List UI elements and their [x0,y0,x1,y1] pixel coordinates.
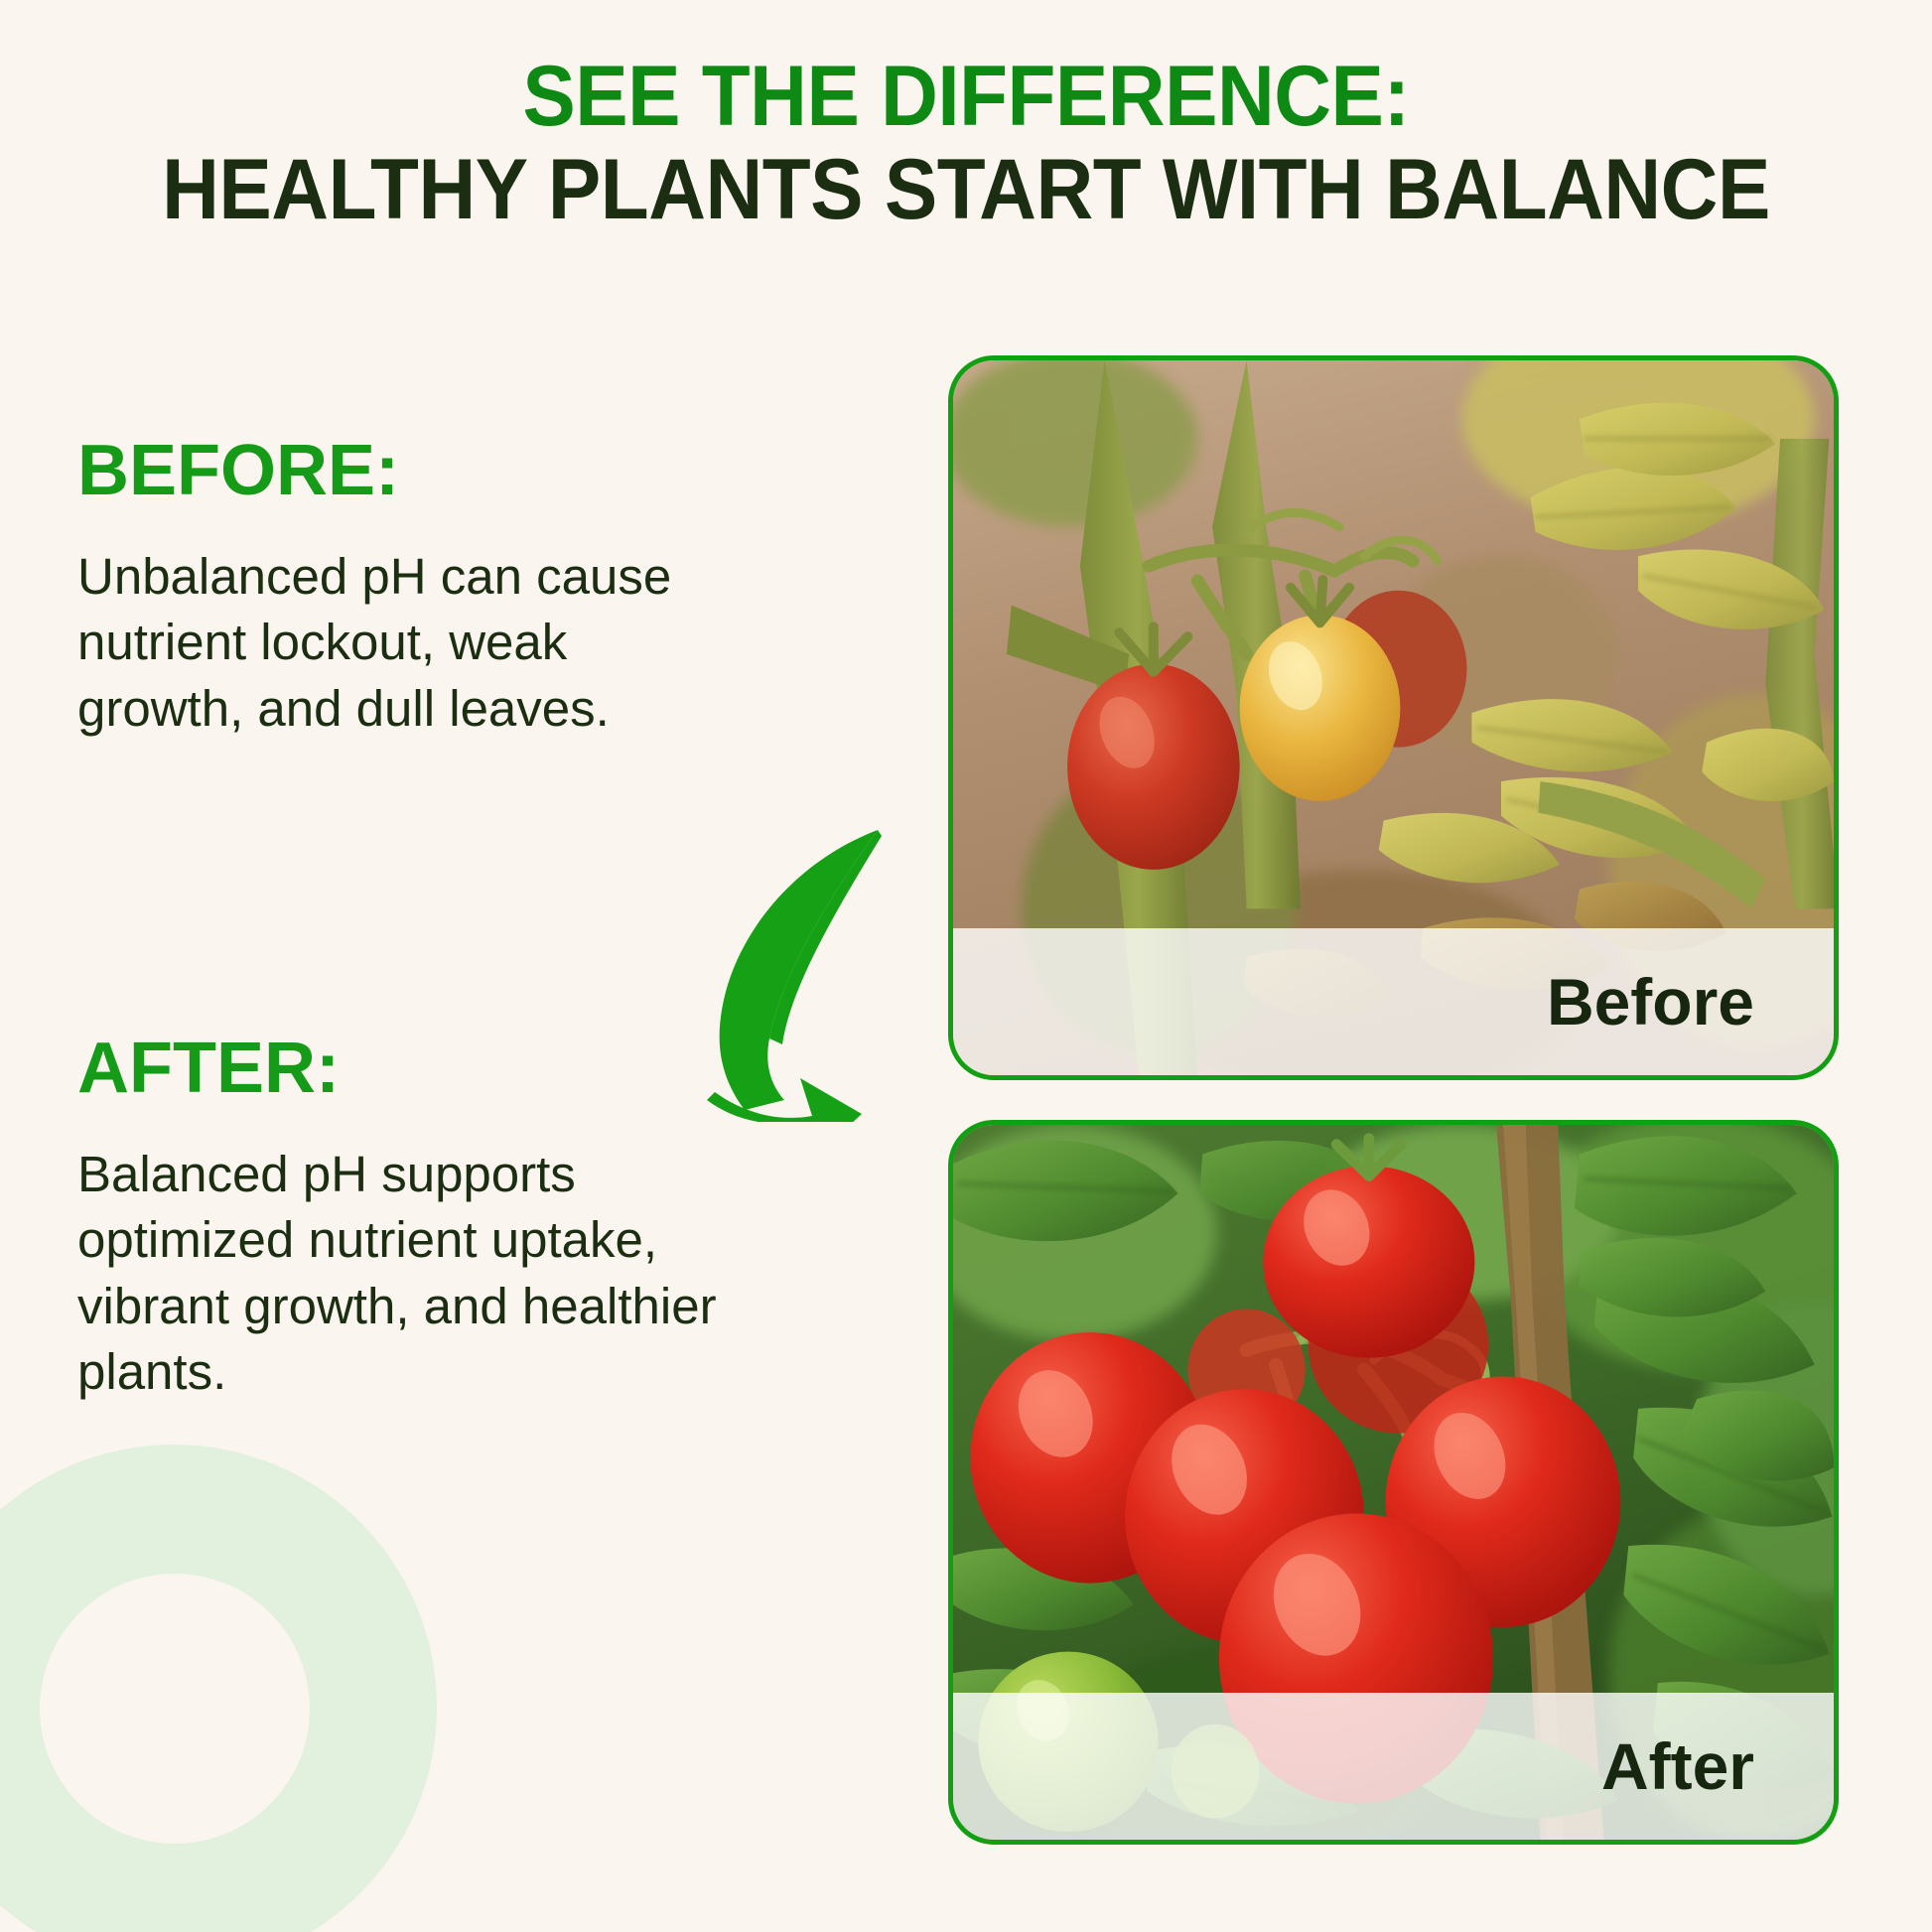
page-title: SEE THE DIFFERENCE: HEALTHY PLANTS START… [0,52,1932,237]
after-photo-card[interactable]: After [948,1120,1839,1845]
after-caption-text: After [1601,1733,1754,1799]
title-line-1: SEE THE DIFFERENCE: [68,52,1864,142]
infographic-page: SEE THE DIFFERENCE: HEALTHY PLANTS START… [0,0,1932,1932]
before-body-text: Unbalanced pH can cause nutrient lockout… [77,544,733,742]
decorative-ring-hole [40,1574,310,1844]
curved-down-arrow-icon [596,794,1013,1122]
after-caption-band: After [953,1693,1834,1840]
before-caption-text: Before [1547,969,1754,1035]
before-label: BEFORE: [77,435,772,506]
after-body-text: Balanced pH supports optimized nutrient … [77,1142,733,1405]
before-photo-card[interactable]: Before [948,355,1839,1080]
before-caption-band: Before [953,928,1834,1075]
title-line-2: HEALTHY PLANTS START WITH BALANCE [68,142,1864,237]
before-info-block: BEFORE: Unbalanced pH can cause nutrient… [77,435,772,742]
